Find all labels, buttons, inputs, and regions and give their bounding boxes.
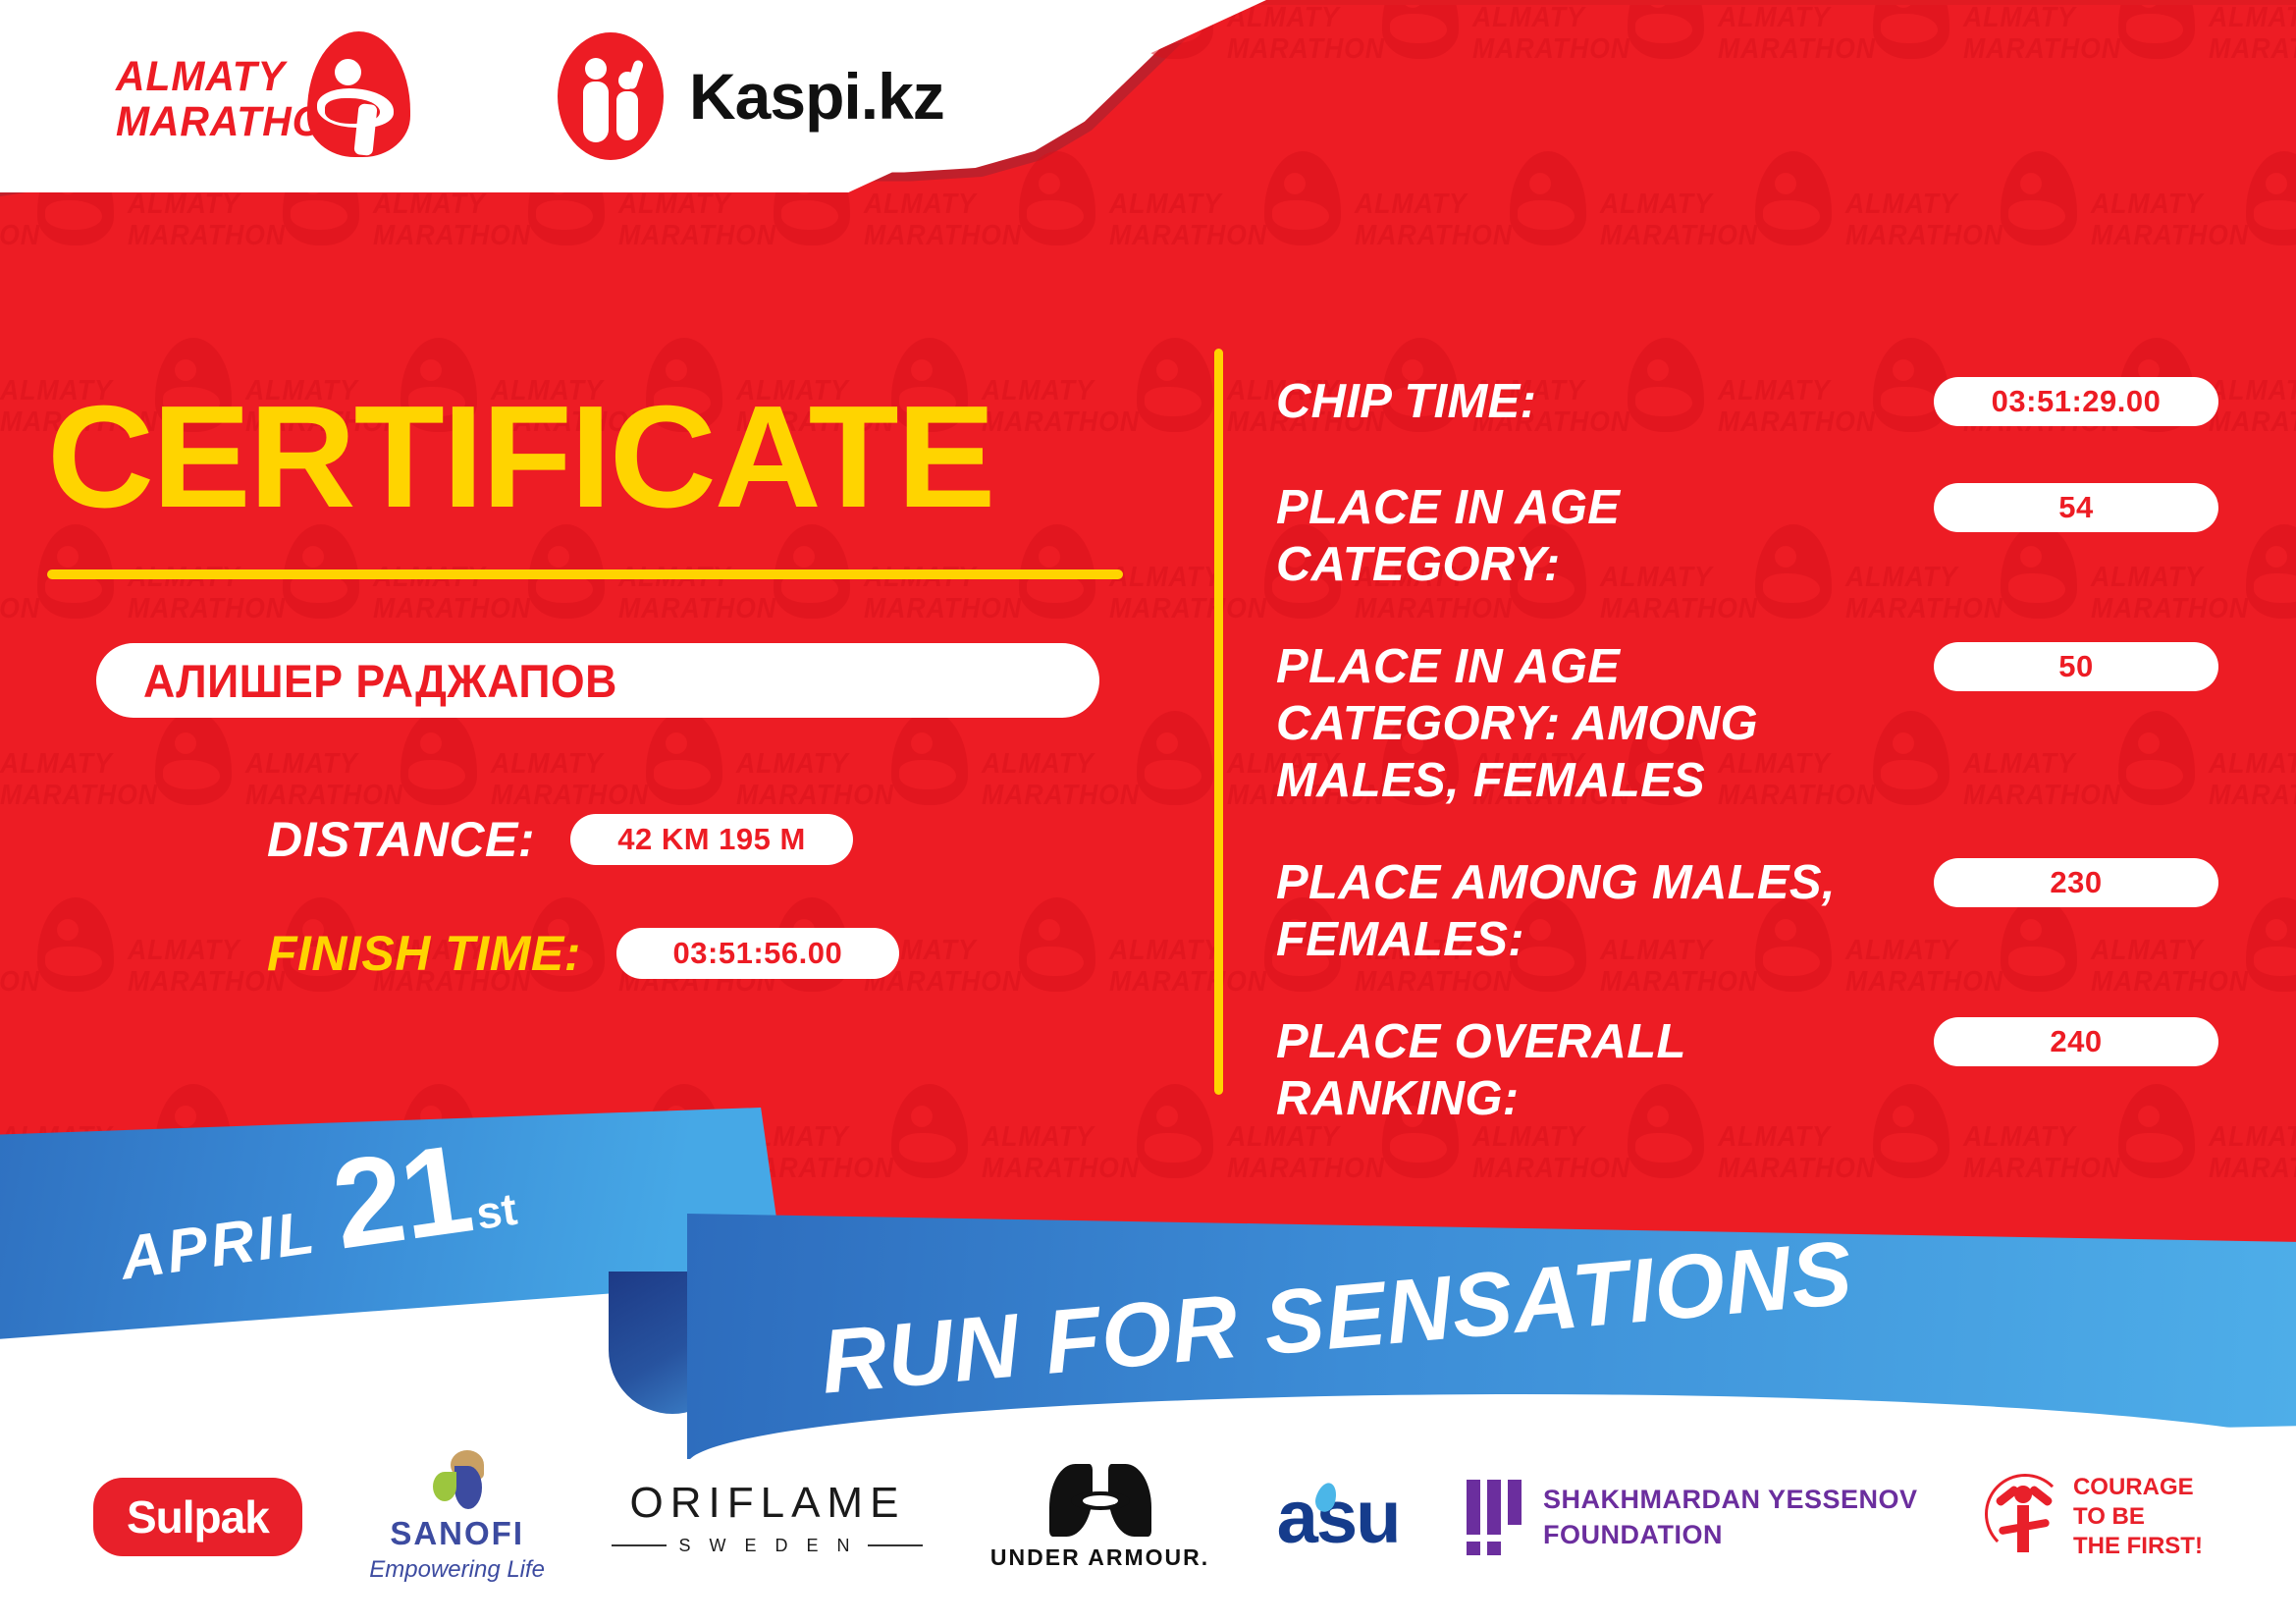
sponsor-sanofi: SANOFI Empowering Life xyxy=(369,1450,545,1584)
sanofi-petal-blue xyxy=(454,1466,482,1509)
watermark-tile: ALMATYMARATHON xyxy=(1845,147,2091,334)
yessenov-wordmark: SHAKHMARDAN YESSENOV FOUNDATION xyxy=(1543,1482,1918,1552)
kaspi-wordmark: Kaspi.kz xyxy=(689,59,944,134)
watermark-drop-icon xyxy=(646,711,722,805)
title-underline xyxy=(47,569,1123,579)
watermark-drop-icon xyxy=(2246,897,2296,992)
watermark-line1: ALMATY xyxy=(128,937,240,965)
cf-line2: TO BE xyxy=(2073,1502,2203,1532)
sanofi-tagline: Empowering Life xyxy=(369,1556,545,1584)
participant-name: АЛИШЕР РАДЖАПОВ xyxy=(143,654,617,708)
certificate-canvas: ALMATYMARATHONALMATYMARATHONALMATYMARATH… xyxy=(0,0,2296,1624)
watermark-line2: MARATHON xyxy=(982,408,1140,437)
watermark-drop-icon xyxy=(1510,151,1586,245)
cf-line1: COURAGE xyxy=(2073,1473,2203,1502)
stat-value: 230 xyxy=(1934,858,2218,907)
distance-value: 42 KM 195 M xyxy=(570,814,853,865)
watermark-line1: ALMATY xyxy=(982,750,1095,779)
watermark-tile: ALMATYMARATHON xyxy=(982,707,1227,893)
watermark-line2: MARATHON xyxy=(1600,222,1758,250)
yessenov-square xyxy=(1508,1480,1522,1525)
yessenov-square xyxy=(1467,1500,1480,1514)
watermark-line2: MARATHON xyxy=(2209,408,2296,437)
watermark-drop-icon xyxy=(2001,151,2077,245)
cf-head xyxy=(2014,1486,2032,1503)
watermark-line1: ALMATY xyxy=(2209,750,2296,779)
sponsor-oriflame: ORIFLAME S W E D E N xyxy=(612,1479,923,1556)
watermark-line1: ALMATY xyxy=(1472,4,1585,32)
yessenov-line1: SHAKHMARDAN YESSENOV xyxy=(1543,1482,1918,1517)
oriflame-sub: S W E D E N xyxy=(612,1536,923,1556)
watermark-line2: MARATHON xyxy=(982,782,1140,810)
watermark-line2: MARATHON xyxy=(618,222,776,250)
watermark-line1: ALMATY xyxy=(245,750,358,779)
watermark-drop-icon xyxy=(1264,151,1341,245)
watermark-line2: MARATHON xyxy=(736,782,894,810)
watermark-line1: ALMATY xyxy=(1109,564,1222,592)
sulpak-logo: Sulpak xyxy=(93,1478,302,1556)
watermark-drop-icon xyxy=(891,711,968,805)
watermark-line2: MARATHON xyxy=(491,782,649,810)
watermark-line1: ALMATY xyxy=(736,750,849,779)
watermark-line2: MARATHON xyxy=(128,968,286,997)
watermark-tile: ALMATYMARATHON xyxy=(864,893,1109,1080)
asu-wordmark: asu xyxy=(1277,1476,1400,1559)
watermark-tile: ALMATYMARATHON xyxy=(2209,334,2296,520)
watermark-drop-icon xyxy=(1137,711,1213,805)
kaspi-people-icon xyxy=(558,32,664,160)
page-title: CERTIFICATE xyxy=(47,385,993,530)
stat-label: PLACE IN AGE CATEGORY: xyxy=(1276,479,1916,593)
stat-value: 50 xyxy=(1934,642,2218,691)
watermark-line2: MARATHON xyxy=(1963,35,2121,64)
watermark-line1: ALMATY xyxy=(491,750,604,779)
event-day-ordinal: st xyxy=(473,1182,520,1240)
sanofi-wordmark: SANOFI xyxy=(390,1515,524,1552)
almaty-marathon-logo: ALMATY MARATHON xyxy=(116,32,410,160)
stat-row: CHIP TIME:03:51:29.00 xyxy=(1276,373,2218,434)
sponsor-sulpak: Sulpak xyxy=(93,1478,302,1556)
stat-value: 240 xyxy=(1934,1017,2218,1066)
oriflame-rule-left xyxy=(612,1544,667,1546)
sponsor-asu: asu xyxy=(1277,1475,1400,1560)
watermark-line2: MARATHON xyxy=(373,595,531,623)
watermark-tile: ALMATYMARATHON xyxy=(2091,147,2296,334)
watermark-line2: MARATHON xyxy=(0,968,40,997)
under-armour-wordmark: UNDER ARMOUR. xyxy=(990,1544,1209,1571)
runner-head-icon xyxy=(335,59,361,85)
watermark-line1: ALMATY xyxy=(618,190,731,219)
oriflame-country: S W E D E N xyxy=(678,1536,856,1556)
watermark-line2: MARATHON xyxy=(2209,35,2296,64)
watermark-line1: ALMATY xyxy=(128,190,240,219)
yessenov-square xyxy=(1467,1542,1480,1555)
watermark-line2: MARATHON xyxy=(128,595,286,623)
watermark-line2: MARATHON xyxy=(128,222,286,250)
oriflame-wordmark: ORIFLAME xyxy=(630,1479,906,1528)
finish-time-value: 03:51:56.00 xyxy=(616,928,899,979)
watermark-drop-icon xyxy=(2118,0,2195,59)
corporate-fund-logo: COURAGE TO BE THE FIRST! xyxy=(1985,1472,2203,1562)
watermark-drop-icon xyxy=(1137,338,1213,432)
header-logos-row: ALMATY MARATHON Kaspi.kz xyxy=(0,5,1158,187)
stat-value: 54 xyxy=(1934,483,2218,532)
watermark-line2: MARATHON xyxy=(864,222,1022,250)
watermark-drop-icon xyxy=(1755,151,1832,245)
stat-label: CHIP TIME: xyxy=(1276,373,1916,430)
event-ribbon: APRIL 21 st RUN FOR SENSATIONS xyxy=(0,1100,2296,1453)
watermark-line2: MARATHON xyxy=(1472,35,1630,64)
watermark-tile: ALMATYMARATHON xyxy=(618,893,864,1080)
watermark-line1: ALMATY xyxy=(1109,190,1222,219)
watermark-line2: MARATHON xyxy=(1109,968,1267,997)
watermark-tile: ALMATYMARATHON xyxy=(1355,147,1600,334)
kaspi-logo: Kaspi.kz xyxy=(558,32,944,160)
cf-line3: THE FIRST! xyxy=(2073,1532,2203,1561)
watermark-line2: MARATHON xyxy=(1109,222,1267,250)
oriflame-rule-right xyxy=(868,1544,923,1546)
under-armour-logo xyxy=(1049,1464,1151,1537)
yessenov-square xyxy=(1487,1542,1501,1555)
watermark-tile: ALMATYMARATHON xyxy=(0,707,245,893)
stats-list: CHIP TIME:03:51:29.00PLACE IN AGE CATEGO… xyxy=(1276,373,2218,1172)
watermark-line2: MARATHON xyxy=(373,222,531,250)
runner-body-icon xyxy=(317,88,394,128)
kaspi-head-1 xyxy=(585,58,607,80)
stat-row: PLACE AMONG MALES, FEMALES:230 xyxy=(1276,854,2218,968)
sanofi-petal-green xyxy=(433,1472,456,1501)
yessenov-line2: FOUNDATION xyxy=(1543,1517,1918,1552)
watermark-drop-icon xyxy=(2246,151,2296,245)
distance-label: DISTANCE: xyxy=(267,811,535,868)
stat-row: PLACE IN AGE CATEGORY:54 xyxy=(1276,479,2218,593)
watermark-drop-icon xyxy=(1019,897,1095,992)
stat-label: PLACE IN AGE CATEGORY: AMONG MALES, FEMA… xyxy=(1276,638,1916,809)
yessenov-square xyxy=(1487,1500,1501,1514)
watermark-drop-icon xyxy=(400,711,477,805)
yessenov-square xyxy=(1487,1521,1501,1535)
watermark-line1: ALMATY xyxy=(2091,190,2204,219)
watermark-drop-icon xyxy=(2246,524,2296,619)
participant-name-field: АЛИШЕР РАДЖАПОВ xyxy=(96,643,1099,718)
watermark-line2: MARATHON xyxy=(1227,35,1385,64)
watermark-line1: ALMATY xyxy=(1109,937,1222,965)
kaspi-body-1 xyxy=(583,81,609,142)
sponsors-row: Sulpak SANOFI Empowering Life ORIFLAME S… xyxy=(0,1443,2296,1591)
asu-logo: asu xyxy=(1277,1475,1400,1560)
watermark-drop-icon xyxy=(155,711,232,805)
sponsor-yessenov-foundation: SHAKHMARDAN YESSENOV FOUNDATION xyxy=(1467,1480,1918,1555)
watermark-line2: MARATHON xyxy=(864,595,1022,623)
stat-value: 03:51:29.00 xyxy=(1934,377,2218,426)
watermark-tile: ALMATYMARATHON xyxy=(1718,0,1963,147)
yessenov-square xyxy=(1467,1521,1480,1535)
watermark-tile: ALMATYMARATHON xyxy=(2209,707,2296,893)
watermark-tile: ALMATYMARATHON xyxy=(982,334,1227,520)
yessenov-mark-icon xyxy=(1467,1480,1522,1555)
stat-label: PLACE AMONG MALES, FEMALES: xyxy=(1276,854,1916,968)
watermark-line1: ALMATY xyxy=(1718,4,1831,32)
watermark-tile: ALMATYMARATHON xyxy=(1600,147,1845,334)
watermark-line1: ALMATY xyxy=(1600,190,1713,219)
finish-time-row: FINISH TIME: 03:51:56.00 xyxy=(267,925,899,982)
corporate-fund-figure-icon xyxy=(1985,1472,2061,1562)
watermark-line1: ALMATY xyxy=(982,377,1095,406)
watermark-line1: ALMATY xyxy=(0,750,113,779)
kaspi-body-2 xyxy=(616,91,638,140)
watermark-line2: MARATHON xyxy=(618,595,776,623)
sanofi-logo xyxy=(427,1450,488,1511)
runner-drop-icon xyxy=(307,31,410,157)
watermark-drop-icon xyxy=(1628,0,1704,59)
finish-time-label: FINISH TIME: xyxy=(267,925,581,982)
watermark-line2: MARATHON xyxy=(2091,222,2249,250)
ua-center-bar xyxy=(1071,1491,1130,1510)
watermark-line2: MARATHON xyxy=(0,782,158,810)
watermark-drop-icon xyxy=(1873,0,1949,59)
watermark-line1: ALMATY xyxy=(373,190,486,219)
stat-row: PLACE IN AGE CATEGORY: AMONG MALES, FEMA… xyxy=(1276,638,2218,809)
watermark-tile: ALMATYMARATHON xyxy=(1472,0,1718,147)
column-divider xyxy=(1214,349,1223,1095)
watermark-tile: ALMATYMARATHON xyxy=(128,893,373,1080)
watermark-line2: MARATHON xyxy=(2209,782,2296,810)
watermark-line2: MARATHON xyxy=(0,595,40,623)
watermark-drop-icon xyxy=(37,897,114,992)
watermark-tile: ALMATYMARATHON xyxy=(0,893,128,1080)
watermark-line2: MARATHON xyxy=(1718,35,1876,64)
watermark-tile: ALMATYMARATHON xyxy=(1963,0,2209,147)
yessenov-foundation-logo: SHAKHMARDAN YESSENOV FOUNDATION xyxy=(1467,1480,1918,1555)
watermark-drop-icon xyxy=(1382,0,1459,59)
runner-leg-icon xyxy=(353,103,377,156)
watermark-line1: ALMATY xyxy=(1845,190,1958,219)
watermark-line2: MARATHON xyxy=(1355,222,1513,250)
sponsor-corporate-fund: COURAGE TO BE THE FIRST! xyxy=(1985,1472,2203,1562)
watermark-line1: ALMATY xyxy=(1355,190,1468,219)
watermark-line2: MARATHON xyxy=(245,782,403,810)
watermark-line1: ALMATY xyxy=(2209,4,2296,32)
watermark-line1: ALMATY xyxy=(864,190,977,219)
watermark-line2: MARATHON xyxy=(1109,595,1267,623)
watermark-line1: ALMATY xyxy=(1963,4,2076,32)
watermark-tile: ALMATYMARATHON xyxy=(373,893,618,1080)
watermark-tile: ALMATYMARATHON xyxy=(1227,0,1472,147)
watermark-tile: ALMATYMARATHON xyxy=(2209,0,2296,147)
watermark-line1: ALMATY xyxy=(2209,377,2296,406)
watermark-line2: MARATHON xyxy=(0,222,40,250)
distance-row: DISTANCE: 42 KM 195 M xyxy=(267,811,853,868)
event-day: 21 xyxy=(326,1126,478,1270)
corporate-fund-wordmark: COURAGE TO BE THE FIRST! xyxy=(2073,1473,2203,1561)
sponsor-under-armour: UNDER ARMOUR. xyxy=(990,1464,1209,1571)
watermark-line2: MARATHON xyxy=(1845,222,2003,250)
